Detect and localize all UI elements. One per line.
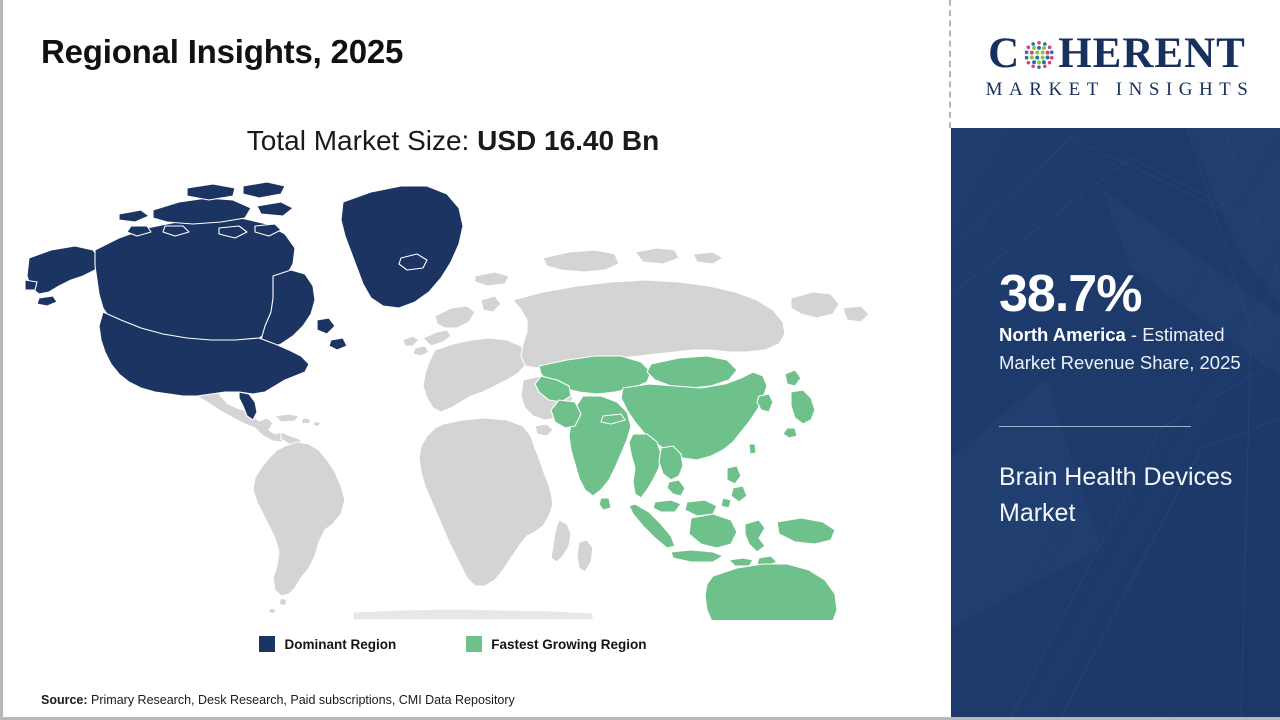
source-note: Source: Primary Research, Desk Research,…	[41, 693, 515, 707]
world-map-svg	[23, 180, 903, 620]
source-label: Source:	[41, 693, 91, 707]
legend-item-fastest-growing: Fastest Growing Region	[466, 636, 646, 652]
legend-label-dominant: Dominant Region	[284, 637, 396, 652]
market-size-label: Total Market Size:	[247, 125, 477, 156]
logo-wordmark: C	[988, 32, 1246, 75]
brand-logo: C	[951, 0, 1280, 128]
logo-subtitle: MARKET INSIGHTS	[980, 79, 1255, 101]
world-map	[23, 180, 903, 620]
logo-name-before: C	[988, 32, 1020, 75]
source-text: Primary Research, Desk Research, Paid su…	[91, 693, 515, 707]
left-panel: Regional Insights, 2025 Total Market Siz…	[3, 0, 949, 720]
page-title: Regional Insights, 2025	[41, 33, 403, 71]
market-name: Brain Health Devices Market	[999, 460, 1261, 531]
infographic-canvas: Regional Insights, 2025 Total Market Siz…	[0, 0, 1280, 720]
map-region-dominant	[25, 182, 463, 420]
stat-region-name: North America	[999, 324, 1126, 345]
map-region-fastest-growing	[535, 356, 889, 620]
dotted-globe-icon	[1021, 37, 1057, 73]
stat-content: 38.7% North America - Estimated Market R…	[999, 128, 1271, 717]
legend-label-fastest-growing: Fastest Growing Region	[491, 637, 646, 652]
market-size-value: USD 16.40 Bn	[477, 125, 659, 156]
map-legend: Dominant Region Fastest Growing Region	[3, 636, 903, 652]
legend-item-dominant: Dominant Region	[259, 636, 396, 652]
stat-description: North America - Estimated Market Revenue…	[999, 321, 1264, 377]
stat-panel: 38.7% North America - Estimated Market R…	[951, 128, 1280, 717]
stat-divider	[999, 426, 1191, 427]
total-market-size: Total Market Size: USD 16.40 Bn	[3, 125, 903, 157]
legend-swatch-fastest-growing-icon	[466, 636, 482, 652]
stat-percentage: 38.7%	[999, 268, 1141, 320]
logo-name-after: HERENT	[1058, 32, 1246, 75]
legend-swatch-dominant-icon	[259, 636, 275, 652]
